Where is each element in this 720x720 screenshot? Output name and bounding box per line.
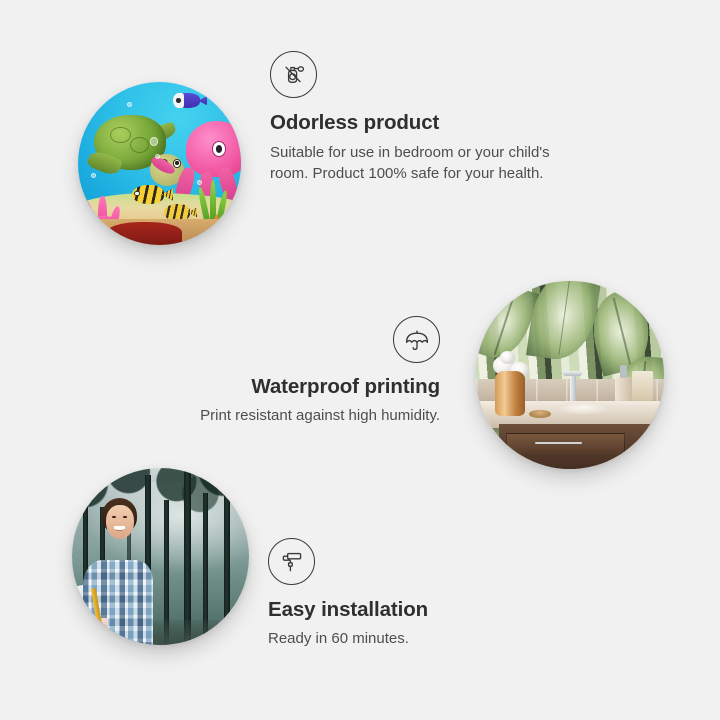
vanity-cabinet-decor: [499, 424, 664, 469]
paint-roller-icon: [268, 538, 315, 585]
feature-odorless: Odorless product Suitable for use in bed…: [270, 51, 592, 185]
red-rock-decor: [107, 222, 182, 245]
person-eye-decor: [112, 516, 116, 518]
feature-title: Waterproof printing: [140, 375, 440, 399]
woman-paint-roller-forest-mural-photo: [72, 468, 249, 645]
feature-description: Ready in 60 minutes.: [268, 628, 428, 649]
bubble-decor: [91, 173, 96, 178]
feature-highlights-panel: Odorless product Suitable for use in bed…: [0, 0, 720, 720]
feature-title: Odorless product: [270, 111, 592, 135]
umbrella-icon: [393, 316, 440, 363]
feature-description: Suitable for use in bedroom or your chil…: [270, 142, 592, 185]
turtle-eye-decor: [173, 159, 182, 168]
tree-trunk-decor: [184, 468, 191, 645]
feature-title: Easy installation: [268, 598, 428, 622]
feature-description: Print resistant against high humidity.: [140, 405, 440, 426]
bubble-decor: [150, 137, 158, 145]
underwater-cartoon-mural-photo: [78, 82, 241, 245]
striped-fish-decor: [132, 185, 165, 205]
bubble-decor: [127, 102, 133, 108]
vase-decor: [495, 371, 525, 416]
no-odor-perfume-bottle-icon: [270, 51, 317, 98]
person-face-decor: [106, 505, 134, 539]
bathroom-tropical-wallpaper-photo: [476, 281, 664, 469]
feature-waterproof: Waterproof printing Print resistant agai…: [140, 316, 440, 426]
feature-installation: Easy installation Ready in 60 minutes.: [268, 538, 428, 649]
blue-fish-decor: [173, 93, 201, 108]
tree-canopy-decor: [72, 468, 249, 539]
